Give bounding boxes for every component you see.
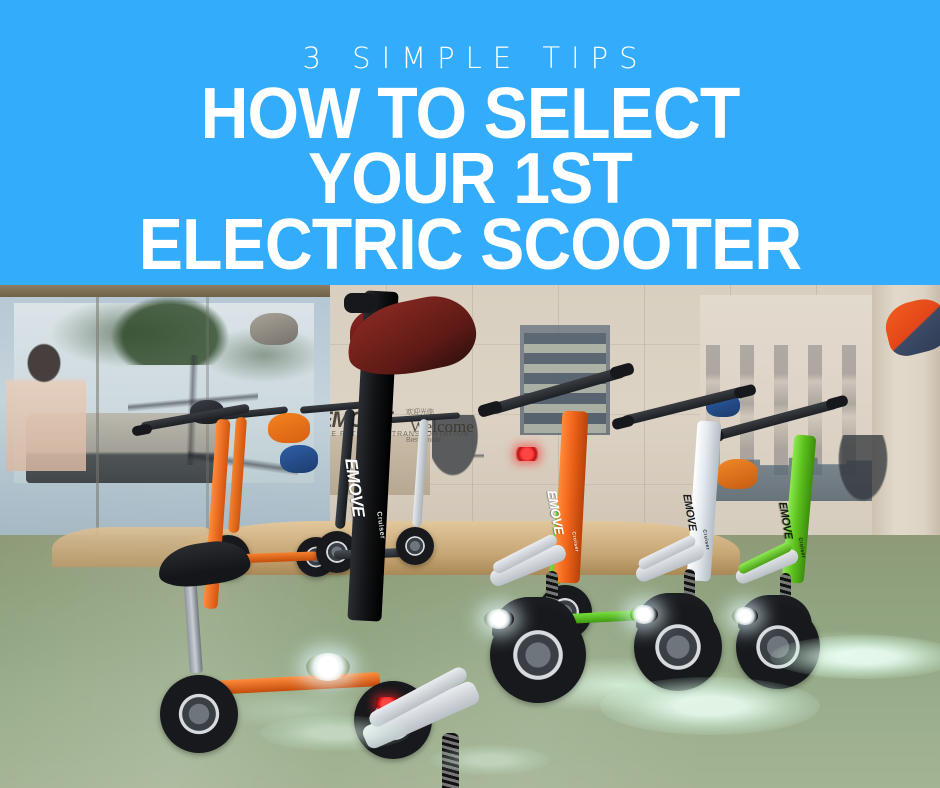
headlight xyxy=(732,607,758,625)
page-title: HOW TO SELECT YOUR 1ST ELECTRIC SCOOTER xyxy=(0,80,940,279)
helmet-orange-icon-2 xyxy=(716,459,758,489)
headline-line-3: ELECTRIC SCOOTER xyxy=(38,211,903,279)
helmet-grey-icon xyxy=(250,313,298,345)
taillight xyxy=(516,447,538,461)
wheel xyxy=(160,675,238,753)
light-pool xyxy=(430,745,550,775)
headlight xyxy=(630,605,658,624)
showroom-photo: EMOVE THE FUTURE OF TRANSPORTATION 欢迎光临 … xyxy=(0,285,940,788)
light-pool xyxy=(600,677,820,735)
grip xyxy=(344,293,376,313)
helmet-orange-icon xyxy=(268,413,310,443)
wheel xyxy=(396,527,434,565)
headline-line-2: YOUR 1ST xyxy=(38,145,903,213)
helmet-blue-icon xyxy=(280,445,318,473)
person-reflection xyxy=(6,341,86,471)
header-block: 3 SIMPLE TIPS HOW TO SELECT YOUR 1ST ELE… xyxy=(0,0,940,285)
light-pool xyxy=(260,715,410,751)
window-header-frame xyxy=(0,285,330,297)
infographic-banner: 3 SIMPLE TIPS HOW TO SELECT YOUR 1ST ELE… xyxy=(0,0,940,788)
headlight xyxy=(306,653,350,681)
headlight xyxy=(484,609,514,629)
headline-line-1: HOW TO SELECT xyxy=(38,80,903,148)
office-chair-right xyxy=(836,435,896,515)
eyebrow-text: 3 SIMPLE TIPS xyxy=(0,40,940,76)
